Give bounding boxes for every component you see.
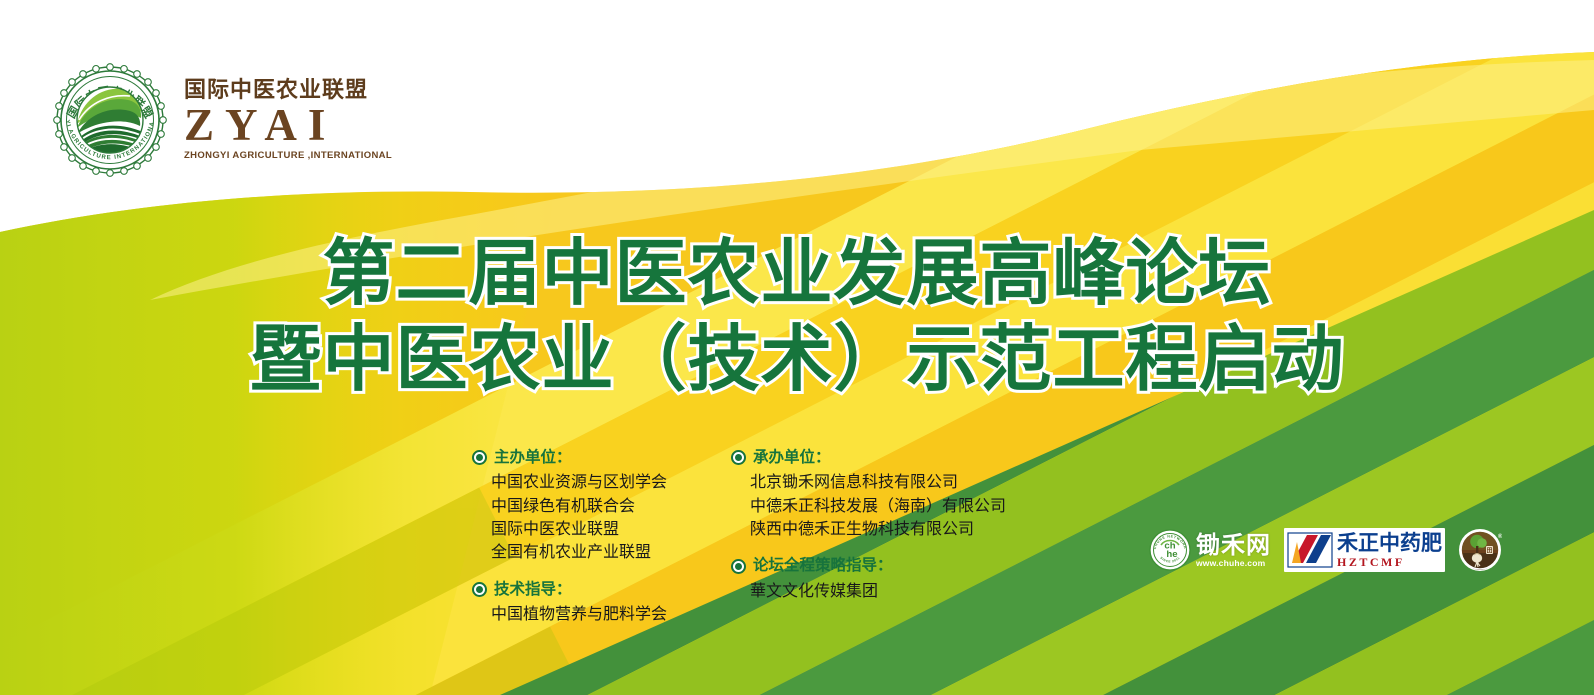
list-item: 中国绿色有机联合会 [491,494,667,517]
group-item-list: 中国农业资源与区划学会 中国绿色有机联合会 国际中医农业联盟 全国有机农业产业联… [491,470,667,563]
svg-text:he: he [1166,549,1177,560]
organizer-info: 主办单位： 中国农业资源与区划学会 中国绿色有机联合会 国际中医农业联盟 全国有… [472,448,1006,626]
list-item: 北京锄禾网信息科技有限公司 [750,470,1006,493]
info-column-right: 承办单位： 北京锄禾网信息科技有限公司 中德禾正科技发展（海南）有限公司 陕西中… [731,448,1006,626]
group-heading-row: 承办单位： [731,448,1006,467]
info-group-technical-guidance: 技术指导： 中国植物营养与肥料学会 [472,580,667,626]
info-group-organizers: 主办单位： 中国农业资源与区划学会 中国绿色有机联合会 国际中医农业联盟 全国有… [472,448,667,564]
zyai-wordmark: 国际中医农业联盟 ZYAI ZHONGYI AGRICULTURE ,INTER… [184,79,392,162]
registered-mark: ® [1498,533,1502,540]
bullet-icon [731,450,746,465]
group-heading-label: 主办单位： [494,448,572,467]
info-group-strategic-guidance: 论坛全程策略指导： 華文文化传媒集团 [731,556,1006,602]
bullet-icon [472,450,487,465]
zyai-circular-emblem: 国际中医农业联盟 ZHONGYI AGRICULTURE INTERNATION… [50,62,170,178]
sponsor-logo-chuhe[interactable]: CHUHE NETWORK SINCE 2011 ch he 锄禾网 www.c… [1149,529,1271,571]
group-heading-row: 论坛全程策略指导： [731,556,1006,575]
info-group-co-organizers: 承办单位： 北京锄禾网信息科技有限公司 中德禾正科技发展（海南）有限公司 陕西中… [731,448,1006,540]
hzt-name-en: HZTCMF [1337,556,1442,568]
list-item: 華文文化传媒集团 [750,579,1006,602]
zyai-logo-lockup: 国际中医农业联盟 ZHONGYI AGRICULTURE INTERNATION… [50,62,392,178]
bullet-icon [472,582,487,597]
group-item-list: 北京锄禾网信息科技有限公司 中德禾正科技发展（海南）有限公司 陕西中德禾正生物科… [750,470,1006,540]
sponsor-logo-hztcmf[interactable]: 禾正中药肥 HZTCMF [1284,528,1445,572]
zyai-acronym: ZYAI [184,103,392,148]
tree-root-circular-emblem: 田 ® [1458,528,1502,572]
svg-text:田: 田 [1486,548,1492,555]
list-item: 中国植物营养与肥料学会 [491,602,667,625]
group-heading-row: 技术指导： [472,580,667,599]
list-item: 中德禾正科技发展（海南）有限公司 [750,494,1006,517]
hzt-z-slash-mark [1287,530,1333,570]
list-item: 全国有机农业产业联盟 [491,540,667,563]
zyai-name-cn: 国际中医农业联盟 [184,79,392,102]
bullet-icon [731,559,746,574]
group-heading-label: 技术指导： [494,580,572,599]
group-heading-label: 承办单位： [753,448,831,467]
sponsor-logo-strip: CHUHE NETWORK SINCE 2011 ch he 锄禾网 www.c… [1149,528,1502,572]
group-heading-row: 主办单位： [472,448,667,467]
list-item: 国际中医农业联盟 [491,517,667,540]
event-banner: 国际中医农业联盟 ZHONGYI AGRICULTURE INTERNATION… [0,0,1594,695]
list-item: 中国农业资源与区划学会 [491,470,667,493]
hzt-name-cn: 禾正中药肥 [1337,533,1442,554]
sponsor-logo-tree-emblem[interactable]: 田 ® [1458,528,1502,572]
group-item-list: 中国植物营养与肥料学会 [491,602,667,625]
group-item-list: 華文文化传媒集团 [750,579,1006,602]
chuhe-url: www.chuhe.com [1196,559,1271,568]
group-heading-label: 论坛全程策略指导： [753,556,893,575]
info-column-left: 主办单位： 中国农业资源与区划学会 中国绿色有机联合会 国际中医农业联盟 全国有… [472,448,667,626]
zyai-name-en: ZHONGYI AGRICULTURE ,INTERNATIONAL [184,151,392,161]
chuhe-name-cn: 锄禾网 [1196,533,1271,557]
chuhe-circular-icon: CHUHE NETWORK SINCE 2011 ch he [1149,529,1191,571]
list-item: 陕西中德禾正生物科技有限公司 [750,517,1006,540]
